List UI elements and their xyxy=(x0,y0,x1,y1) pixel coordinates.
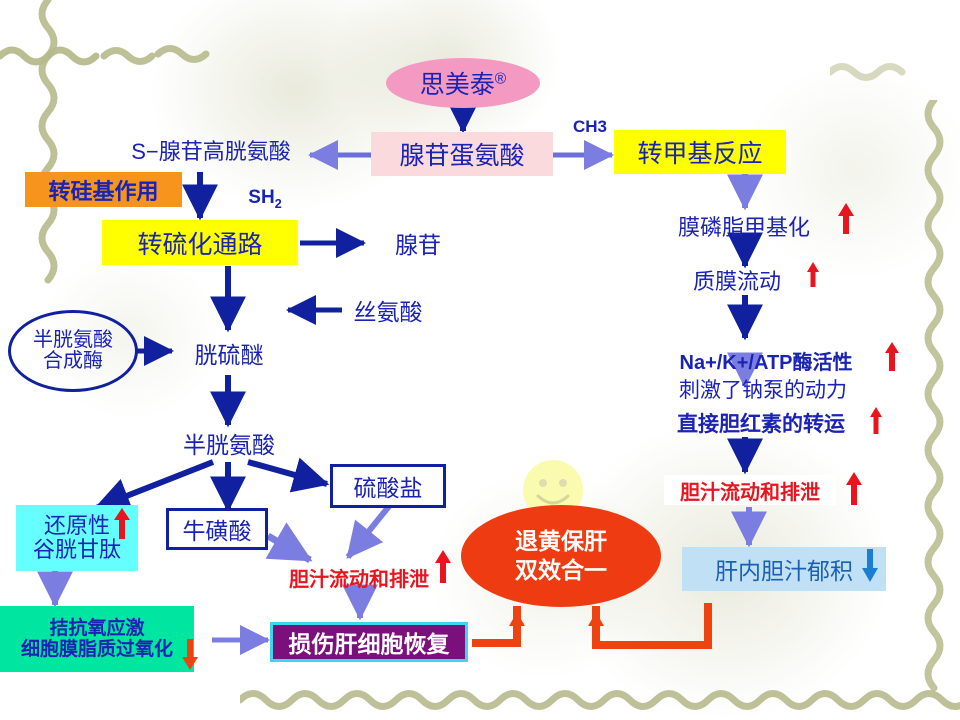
node-label: Na+/K+/ATP酶活性 xyxy=(680,346,853,375)
node-antioxidant-effect[interactable]: 拮抗氧应激 细胞膜脂质过氧化 xyxy=(0,606,194,672)
node-s-adenosylhomocysteine: S−腺苷高胱氨酸 xyxy=(110,133,312,167)
node-label: 半胱氨酸 xyxy=(183,426,275,460)
node-ch3: CH3 xyxy=(560,115,620,139)
node-label: 质膜流动 xyxy=(693,264,781,296)
node-label: 硫酸盐 xyxy=(354,469,423,503)
node-label-line2: 细胞膜脂质过氧化 xyxy=(21,639,173,660)
node-transsulfuration-pathway[interactable]: 转硫化通路 xyxy=(102,220,298,265)
node-label: 腺苷蛋氨酸 xyxy=(399,136,524,172)
down-arrow-indicator-lipid-peroxidation xyxy=(181,638,199,670)
node-label-line1: 还原性 xyxy=(44,514,110,538)
up-arrow-indicator-bile-flow-right xyxy=(845,472,863,506)
slogan-line1: 退黄保肝 xyxy=(515,527,607,556)
slogan-line2: 双效合一 xyxy=(515,556,607,585)
node-dual-effect-slogan[interactable]: 退黄保肝 双效合一 xyxy=(461,505,661,607)
node-label: 胆汁流动和排泄 xyxy=(680,476,820,505)
node-label-line1: 半胱氨酸 xyxy=(33,330,113,351)
node-ademetionine-brand[interactable]: 思美泰® xyxy=(386,58,540,108)
node-direct-bilirubin-transport: 直接胆红素的转运 xyxy=(655,408,867,438)
sh2-label: SH xyxy=(248,187,274,208)
node-cystathionine: 胱硫醚 xyxy=(180,336,278,370)
registered-mark: ® xyxy=(495,71,506,88)
node-serine: 丝氨酸 xyxy=(344,294,432,326)
node-label: S−腺苷高胱氨酸 xyxy=(131,134,291,166)
node-intrahepatic-cholestasis[interactable]: 肝内胆汁郁积 xyxy=(682,547,886,591)
node-label: 牛磺酸 xyxy=(183,512,252,546)
node-label: 胆汁流动和排泄 xyxy=(289,563,429,592)
up-arrow-indicator-membrane-fluidity xyxy=(806,262,820,288)
diagram-canvas: 思美泰® 腺苷蛋氨酸 S−腺苷高胱氨酸 转硅基作用 SH2 CH3 转硫化通路 … xyxy=(0,0,960,720)
node-sulfate[interactable]: 硫酸盐 xyxy=(330,464,446,508)
node-label-line1: 拮抗氧应激 xyxy=(49,618,144,639)
up-arrow-indicator-atpase xyxy=(884,342,900,372)
node-hepatocyte-recovery[interactable]: 损伤肝细胞恢复 xyxy=(270,622,468,662)
node-taurine[interactable]: 牛磺酸 xyxy=(166,508,268,550)
node-bile-flow-left: 胆汁流动和排泄 xyxy=(274,562,444,592)
node-label: 刺激了钠泵的动力 xyxy=(679,374,847,404)
up-arrow-indicator-bilirubin xyxy=(869,407,883,435)
node-label: 直接胆红素的转运 xyxy=(677,408,845,438)
down-arrow-indicator-cholestasis xyxy=(861,548,879,582)
node-plasma-membrane-fluidity: 质膜流动 xyxy=(669,264,805,296)
node-label: 丝氨酸 xyxy=(354,293,423,327)
node-label-line2: 谷胱甘肽 xyxy=(33,538,121,562)
brand-name: 思美泰 xyxy=(420,71,495,99)
node-sh2: SH2 xyxy=(228,185,302,213)
node-label: 膜磷脂甲基化 xyxy=(678,210,810,242)
up-arrow-indicator-bile-flow-left xyxy=(434,550,452,584)
node-cystathionine-synthase[interactable]: 半胱氨酸 合成酶 xyxy=(8,310,138,392)
node-label: 转甲基反应 xyxy=(637,134,762,170)
node-transmethylation[interactable]: 转甲基反应 xyxy=(614,130,786,174)
node-label: 腺苷 xyxy=(395,226,441,260)
up-arrow-indicator-glutathione xyxy=(113,508,131,540)
node-label: 胱硫醚 xyxy=(195,336,264,370)
node-na-k-atpase-activity: Na+/K+/ATP酶活性 xyxy=(652,345,880,375)
node-label: 肝内胆汁郁积 xyxy=(715,552,853,586)
node-label: CH3 xyxy=(573,117,607,137)
node-label: 转硫化通路 xyxy=(137,225,262,261)
node-cysteine: 半胱氨酸 xyxy=(166,426,292,460)
node-sodium-pump-stimulation: 刺激了钠泵的动力 xyxy=(657,374,869,404)
node-adenosine: 腺苷 xyxy=(378,227,458,259)
node-bile-flow-right: 胆汁流动和排泄 xyxy=(664,475,836,505)
node-label-line2: 合成酶 xyxy=(43,351,103,372)
up-arrow-indicator-membrane-methylation xyxy=(837,203,855,235)
node-membrane-phospholipid-methylation: 膜磷脂甲基化 xyxy=(654,209,834,243)
node-label: 损伤肝细胞恢复 xyxy=(289,625,450,659)
node-transsulfuration-label[interactable]: 转硅基作用 xyxy=(25,172,182,207)
sh2-subscript: 2 xyxy=(275,197,282,211)
node-s-adenosylmethionine[interactable]: 腺苷蛋氨酸 xyxy=(371,132,553,176)
node-label: 转硅基作用 xyxy=(48,174,158,206)
